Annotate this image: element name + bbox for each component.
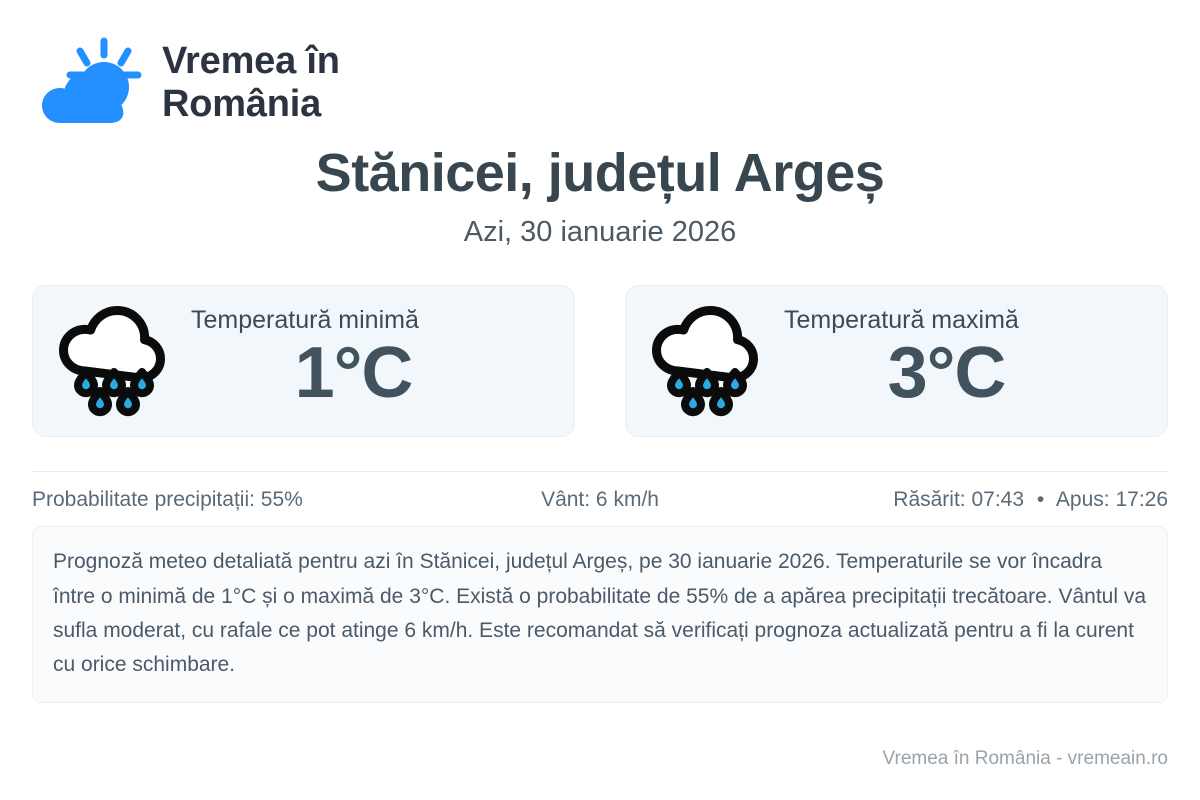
card-min-label: Temperatură minimă — [187, 307, 552, 335]
temperature-cards: Temperatură minimă 1°C Temper — [32, 285, 1168, 437]
footer-credit: Vremea în România - vremeain.ro — [883, 748, 1168, 770]
rain-cloud-icon — [648, 305, 766, 417]
brand-text: Vremea în România — [162, 40, 340, 125]
card-min-value: 1°C — [187, 336, 552, 412]
brand-line-1: Vremea în — [162, 40, 340, 83]
card-min-body: Temperatură minimă 1°C — [187, 307, 552, 416]
page-title: Stănicei, județul Argeș — [32, 144, 1168, 202]
rain-cloud-icon — [55, 305, 173, 417]
card-min-temperature: Temperatură minimă 1°C — [32, 285, 575, 437]
brand-logo[interactable]: Vremea în România — [32, 0, 1168, 120]
page-subtitle: Azi, 30 ianuarie 2026 — [32, 216, 1168, 249]
stat-precipitation: Probabilitate precipitații: 55% — [32, 488, 411, 512]
card-max-body: Temperatură maximă 3°C — [780, 307, 1145, 416]
sun-times-separator: • — [1030, 488, 1051, 511]
card-max-temperature: Temperatură maximă 3°C — [625, 285, 1168, 437]
stat-sunset: Apus: 17:26 — [1056, 488, 1168, 511]
stat-sun-times: Răsărit: 07:43 • Apus: 17:26 — [789, 488, 1168, 512]
brand-line-2: România — [162, 83, 340, 126]
stats-divider — [32, 471, 1168, 472]
weather-page: Vremea în România Stănicei, județul Arge… — [0, 0, 1200, 800]
stat-sunrise: Răsărit: 07:43 — [893, 488, 1024, 511]
stats-row: Probabilitate precipitații: 55% Vânt: 6 … — [32, 488, 1168, 512]
sun-behind-cloud-icon — [32, 35, 144, 131]
stat-wind: Vânt: 6 km/h — [411, 488, 790, 512]
card-max-value: 3°C — [780, 336, 1145, 412]
card-max-label: Temperatură maximă — [780, 307, 1145, 335]
forecast-description: Prognoză meteo detaliată pentru azi în S… — [32, 526, 1168, 703]
